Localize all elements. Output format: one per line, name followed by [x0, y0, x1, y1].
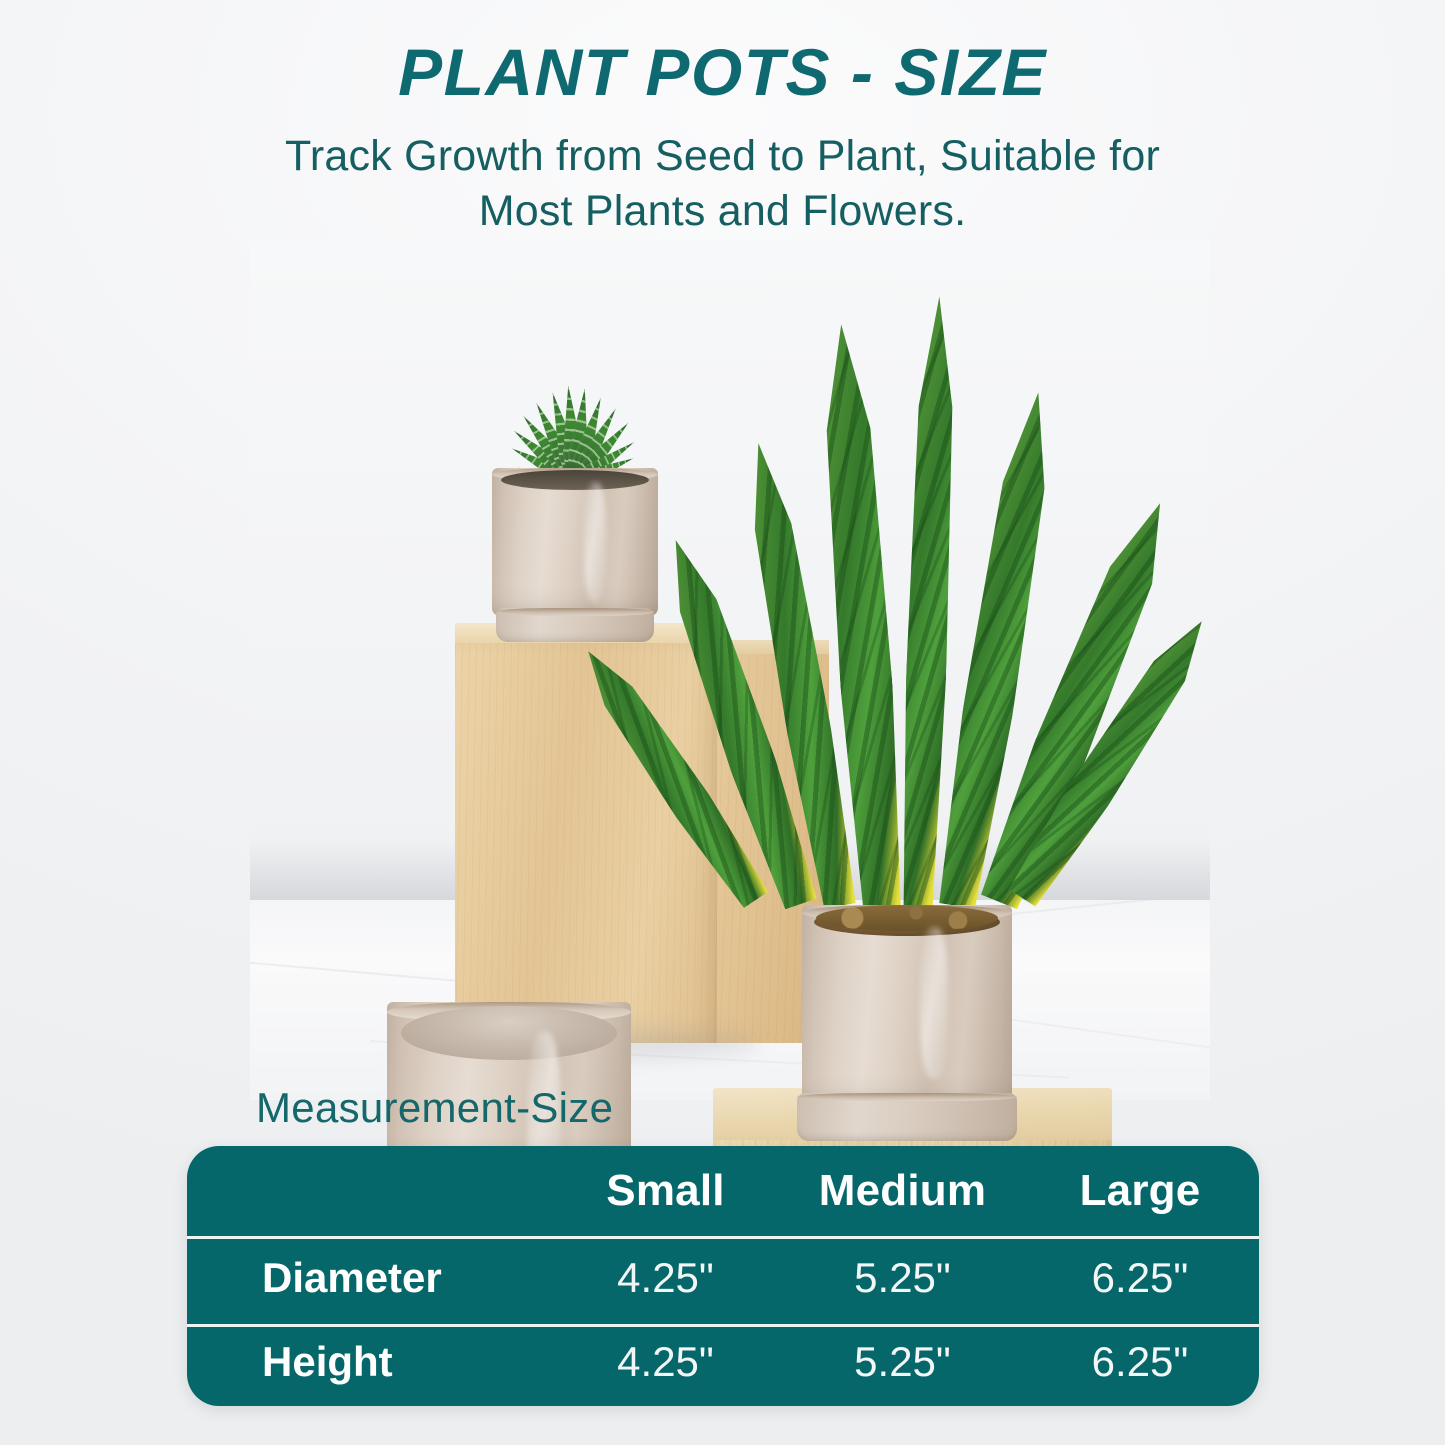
- large-pot: [802, 905, 1012, 1105]
- header: PLANT POTS - SIZE Track Growth from Seed…: [0, 38, 1445, 239]
- small-pot-saucer: [496, 608, 654, 642]
- large-pot-saucer: [797, 1093, 1017, 1141]
- subtitle-line-2: Most Plants and Flowers.: [0, 184, 1445, 239]
- infographic-canvas: PLANT POTS - SIZE Track Growth from Seed…: [0, 0, 1445, 1445]
- header-cell-small: Small: [547, 1166, 784, 1216]
- header-cell-large: Large: [1021, 1166, 1259, 1216]
- header-cell-medium: Medium: [784, 1166, 1021, 1216]
- table-row: Height 4.25" 5.25" 6.25": [187, 1320, 1259, 1404]
- cell-height-large: 6.25": [1021, 1338, 1259, 1386]
- table-row: Diameter 4.25" 5.25" 6.25": [187, 1236, 1259, 1320]
- snake-plant: [700, 260, 1100, 910]
- succulent-plant: [455, 322, 695, 482]
- row-label-diameter: Diameter: [187, 1254, 547, 1302]
- measurement-size-label: Measurement-Size: [256, 1084, 613, 1132]
- potting-soil: [816, 905, 998, 931]
- small-pot: [492, 468, 658, 616]
- table-header-row: Small Medium Large: [187, 1146, 1259, 1236]
- product-photo: [0, 240, 1445, 1100]
- cell-diameter-large: 6.25": [1021, 1254, 1259, 1302]
- page-title: PLANT POTS - SIZE: [0, 38, 1445, 107]
- page-subtitle: Track Growth from Seed to Plant, Suitabl…: [0, 129, 1445, 239]
- cell-height-medium: 5.25": [784, 1338, 1021, 1386]
- cell-diameter-medium: 5.25": [784, 1254, 1021, 1302]
- wood-display-block-tall: [455, 623, 717, 1043]
- subtitle-line-1: Track Growth from Seed to Plant, Suitabl…: [0, 129, 1445, 184]
- cell-diameter-small: 4.25": [547, 1254, 784, 1302]
- row-label-height: Height: [187, 1338, 547, 1386]
- size-table: Small Medium Large Diameter 4.25" 5.25" …: [187, 1146, 1259, 1406]
- cell-height-small: 4.25": [547, 1338, 784, 1386]
